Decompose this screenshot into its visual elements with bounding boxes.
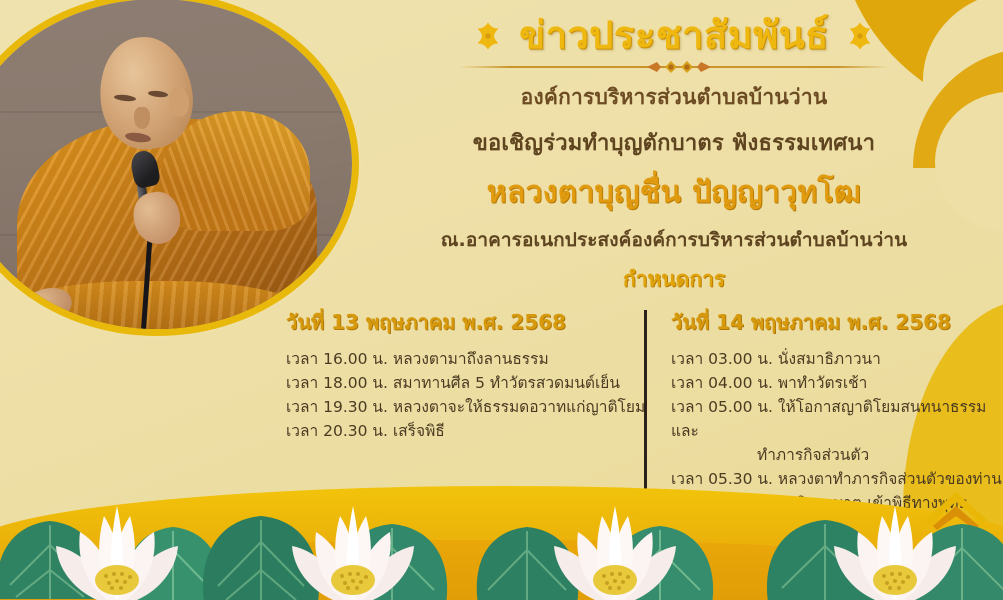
organization-name: องค์การบริหารส่วนตำบลบ้านว่าน — [345, 81, 1003, 114]
schedule-item: เวลา 16.00 น. หลวงตามาถึงลานธรรม — [286, 347, 634, 371]
event-poster: ข่าวประชาสัมพันธ์ องค์การบริหารส่วนตำบลบ… — [0, 0, 1003, 600]
monk-photo — [0, 0, 359, 336]
flower-ornament-icon — [473, 21, 503, 51]
item-text: สมาทานศีล 5 ทำวัตรสวดมนต์เย็น — [393, 374, 620, 392]
item-time: เวลา 18.00 น. — [286, 374, 388, 392]
venue-text: ณ.อาคารอเนกประสงค์องค์การบริหารส่วนตำบลบ… — [345, 225, 1003, 255]
lotus-flower-icon — [42, 488, 192, 600]
item-time: เวลา 05.30 น. — [671, 470, 773, 488]
item-time: เวลา 05.00 น. — [671, 398, 773, 416]
item-text: หลวงตาจะให้ธรรมดอวาทแก่ญาติโยม — [393, 398, 645, 416]
poster-header: ข่าวประชาสัมพันธ์ องค์การบริหารส่วนตำบลบ… — [345, 14, 1003, 296]
item-text: นั่งสมาธิภาวนา — [778, 350, 881, 368]
item-text: หลวงตาทำภารกิจส่วนตัวของท่าน — [778, 470, 1002, 488]
flower-ornament-icon-right — [845, 21, 875, 51]
item-text: พาทำวัตรเช้า — [778, 374, 867, 392]
item-time: เวลา 03.00 น. — [671, 350, 773, 368]
column-divider — [644, 310, 647, 508]
schedule-item: เวลา 19.30 น. หลวงตาจะให้ธรรมดอวาทแก่ญาต… — [286, 395, 634, 419]
schedule-item: เวลา 18.00 น. สมาทานศีล 5 ทำวัตรสวดมนต์เ… — [286, 371, 634, 395]
schedule-item: เวลา 20.30 น. เสร็จพิธี — [286, 419, 634, 443]
item-time: เวลา 04.00 น. — [671, 374, 773, 392]
item-continuation: ทำภารกิจส่วนตัว — [671, 443, 1002, 467]
title-row: ข่าวประชาสัมพันธ์ — [345, 14, 1003, 58]
lotus-flower-icon — [278, 488, 428, 600]
day1-date: วันที่ 13 พฤษภาคม พ.ศ. 2568 — [286, 306, 634, 338]
item-text: หลวงตามาถึงลานธรรม — [393, 350, 549, 368]
schedule-column-day1: วันที่ 13 พฤษภาคม พ.ศ. 2568 เวลา 16.00 น… — [280, 306, 640, 443]
item-text: เสร็จพิธี — [393, 422, 445, 440]
agenda-heading: กำหนดการ — [345, 263, 1003, 296]
divider-ornament-icon — [599, 59, 749, 75]
item-time: เวลา 19.30 น. — [286, 398, 388, 416]
monk-nose — [134, 107, 150, 129]
monk-photo-image — [0, 0, 352, 329]
monk-name: หลวงตาบุญชื่น ปัญญาวุทโฒ — [345, 169, 1003, 216]
lotus-flower-icon — [540, 488, 690, 600]
lotus-flower-icon — [820, 488, 970, 600]
item-time: เวลา 20.30 น. — [286, 422, 388, 440]
schedule-item: เวลา 05.00 น. ให้โอกาสญาติโยมสนทนาธรรมแล… — [671, 395, 1002, 467]
day1-items: เวลา 16.00 น. หลวงตามาถึงลานธรรม เวลา 18… — [286, 347, 634, 443]
divider-ornament — [459, 60, 889, 74]
schedule-item: เวลา 04.00 น. พาทำวัตรเช้า — [671, 371, 1002, 395]
item-time: เวลา 16.00 น. — [286, 350, 388, 368]
invitation-text: ขอเชิญร่วมทำบุญตักบาตร ฟังธรรมเทศนา — [345, 125, 1003, 160]
day2-date: วันที่ 14 พฤษภาคม พ.ศ. 2568 — [671, 306, 1002, 338]
schedule-item: เวลา 03.00 น. นั่งสมาธิภาวนา — [671, 347, 1002, 371]
page-title: ข่าวประชาสัมพันธ์ — [519, 14, 829, 58]
